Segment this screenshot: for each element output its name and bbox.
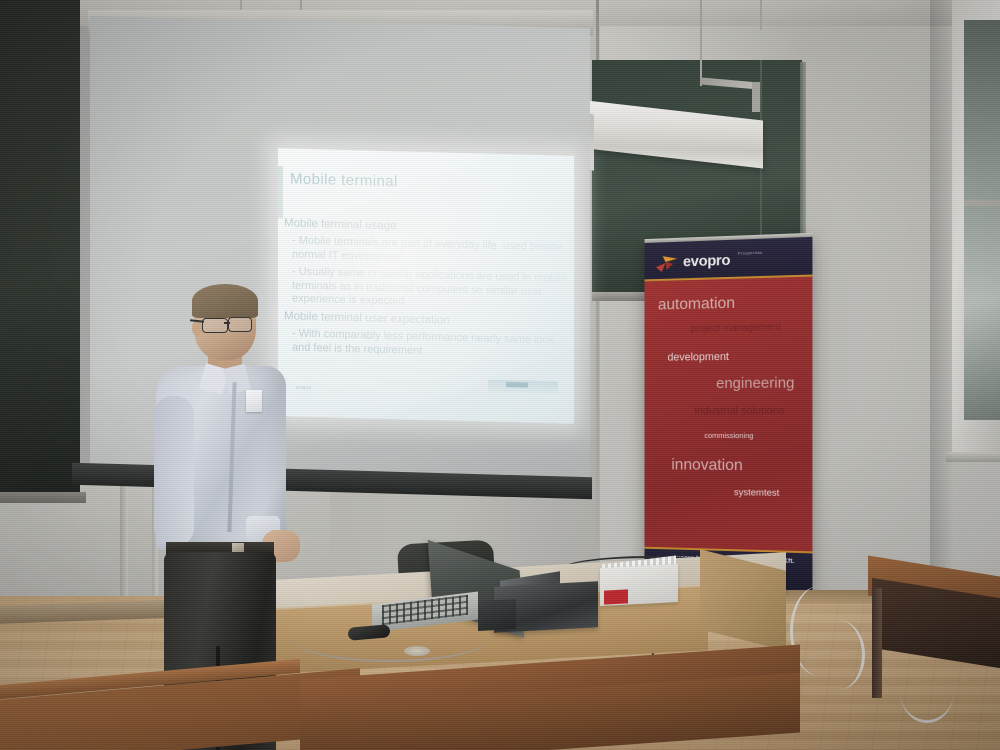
slide-logo-mark	[506, 382, 528, 388]
projector-mount-post	[752, 82, 760, 112]
name-badge	[246, 390, 262, 412]
banner-keyword: innovation	[671, 457, 742, 476]
banner-body: automation project management developmen…	[644, 277, 812, 552]
lecture-room-photo: Mobile terminal Mobile terminal usage: -…	[0, 0, 1000, 750]
banner-keyword: industrial solutions	[695, 405, 785, 417]
evopro-logo-icon	[654, 254, 679, 275]
slide-bullet: - Usually same or similar applications a…	[292, 265, 568, 314]
desk-cable	[290, 612, 490, 662]
slide-accent-bar	[278, 166, 283, 218]
chalk-rail	[0, 492, 86, 503]
projected-slide: Mobile terminal Mobile terminal usage: -…	[278, 148, 574, 424]
lamp-stem	[700, 0, 702, 86]
slide-title: Mobile terminal	[290, 170, 398, 190]
presenter-hair	[192, 284, 258, 318]
glasses-icon	[228, 317, 252, 332]
presenter-arm	[154, 396, 194, 546]
wall-shadow	[930, 0, 954, 600]
window-sill	[946, 452, 1000, 462]
extension-cable	[812, 620, 865, 690]
banner-keyword: engineering	[716, 374, 794, 392]
evopro-wordmark: evopro	[683, 252, 730, 270]
banner-keyword: systemtest	[734, 487, 779, 499]
banner-keyword: automation	[658, 295, 735, 315]
ceiling-panel-seam	[760, 0, 762, 30]
extension-cable	[900, 660, 954, 723]
banner-keyword: commissioning	[704, 431, 753, 440]
glasses-icon	[202, 318, 228, 333]
slide-bullet: - With comparably less performance nearl…	[292, 328, 568, 363]
banner-header: evopro Prosperitas	[644, 237, 812, 281]
slide-footer: evopro	[296, 385, 312, 390]
slide-bullet: - Mobile terminals are part of everyday …	[292, 234, 568, 269]
chalkboard-left	[0, 0, 80, 500]
slide-body: Mobile terminal usage: - Mobile terminal…	[284, 216, 568, 365]
window-glass	[964, 20, 1000, 420]
window-mullion	[964, 200, 1000, 206]
evopro-superscript: Prosperitas	[738, 250, 763, 256]
banner-keyword: project management	[691, 322, 781, 335]
glasses-bridge	[224, 322, 230, 324]
evopro-rollup-banner: evopro Prosperitas automation project ma…	[644, 233, 812, 599]
banner-keyword: development	[667, 351, 728, 364]
side-table-leg	[872, 588, 882, 698]
product-box-label	[604, 589, 628, 604]
